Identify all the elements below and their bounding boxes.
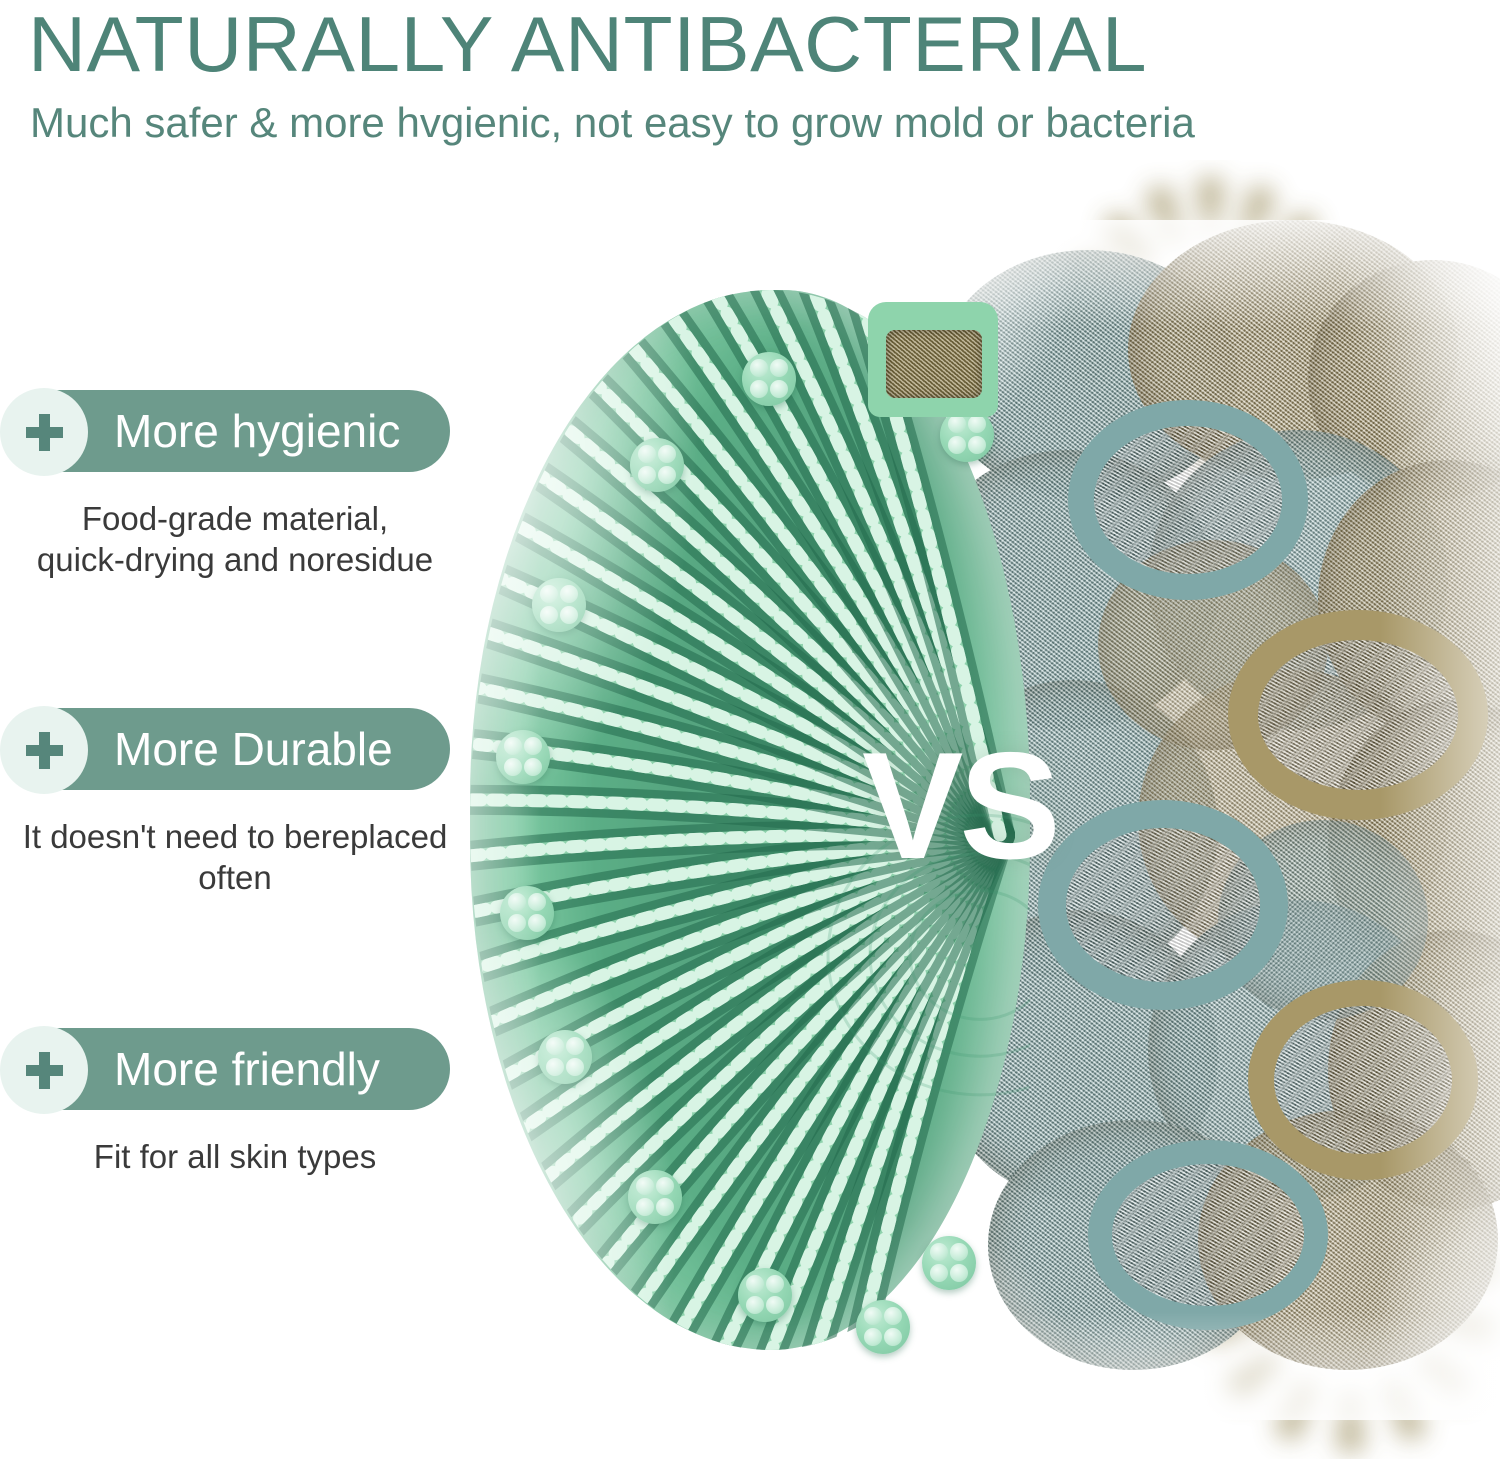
suction-nub <box>630 438 684 492</box>
suction-nub <box>532 578 586 632</box>
virus-spike <box>1344 1396 1357 1439</box>
virus-spike <box>1204 190 1217 231</box>
feature-badge-more-durable: More Durable <box>10 708 450 790</box>
suction-nub <box>500 886 554 940</box>
feature-badge-more-hygienic: More hygienic <box>10 390 450 472</box>
product-comparison-image: VS <box>470 160 1500 1459</box>
loofah-swirl <box>1038 800 1288 1010</box>
feature-description: Food-grade material,quick-drying and nor… <box>0 498 470 580</box>
header: NATURALLY ANTIBACTERIAL Much safer & mor… <box>0 0 1500 165</box>
brush-hang-tab <box>868 302 998 417</box>
feature-badge-more-friendly: More friendly <box>10 1028 450 1110</box>
feature-description: It doesn't need to bereplacedoften <box>0 816 470 898</box>
page-subtitle: Much safer & more hvgienic, not easy to … <box>30 97 1195 149</box>
plus-icon <box>0 706 88 794</box>
virus-spike <box>1237 1355 1279 1392</box>
suction-nub <box>628 1170 682 1224</box>
loofah-swirl <box>1068 400 1308 600</box>
feature-item-more-durable: More Durable It doesn't need to bereplac… <box>0 708 470 898</box>
feature-item-more-hygienic: More hygienic Food-grade material,quick-… <box>0 390 470 580</box>
suction-nub <box>538 1030 592 1084</box>
feature-badge-label: More Durable <box>114 724 393 774</box>
virus-spike <box>1284 1384 1314 1429</box>
suction-nub <box>496 730 550 784</box>
plus-icon <box>0 1026 88 1114</box>
loofah-swirl <box>1248 980 1478 1180</box>
feature-item-more-friendly: More friendly Fit for all skin types <box>0 1028 470 1177</box>
page-title: NATURALLY ANTIBACTERIAL <box>28 0 1147 90</box>
virus-spike <box>1421 1355 1463 1392</box>
loofah-swirl <box>1228 610 1488 820</box>
loofah-swirl <box>1088 1140 1328 1330</box>
suction-nub <box>922 1236 976 1290</box>
feature-badge-label: More hygienic <box>114 406 400 456</box>
suction-nub <box>738 1268 792 1322</box>
suction-nub <box>856 1300 910 1354</box>
vs-label: VS <box>862 730 1057 882</box>
brush-hang-hole <box>886 330 982 398</box>
virus-spike <box>1386 1384 1416 1429</box>
suction-nub <box>742 352 796 406</box>
feature-badge-label: More friendly <box>114 1044 380 1094</box>
plus-icon <box>0 388 88 476</box>
virus-spike <box>1154 197 1182 239</box>
feature-description: Fit for all skin types <box>0 1136 470 1177</box>
